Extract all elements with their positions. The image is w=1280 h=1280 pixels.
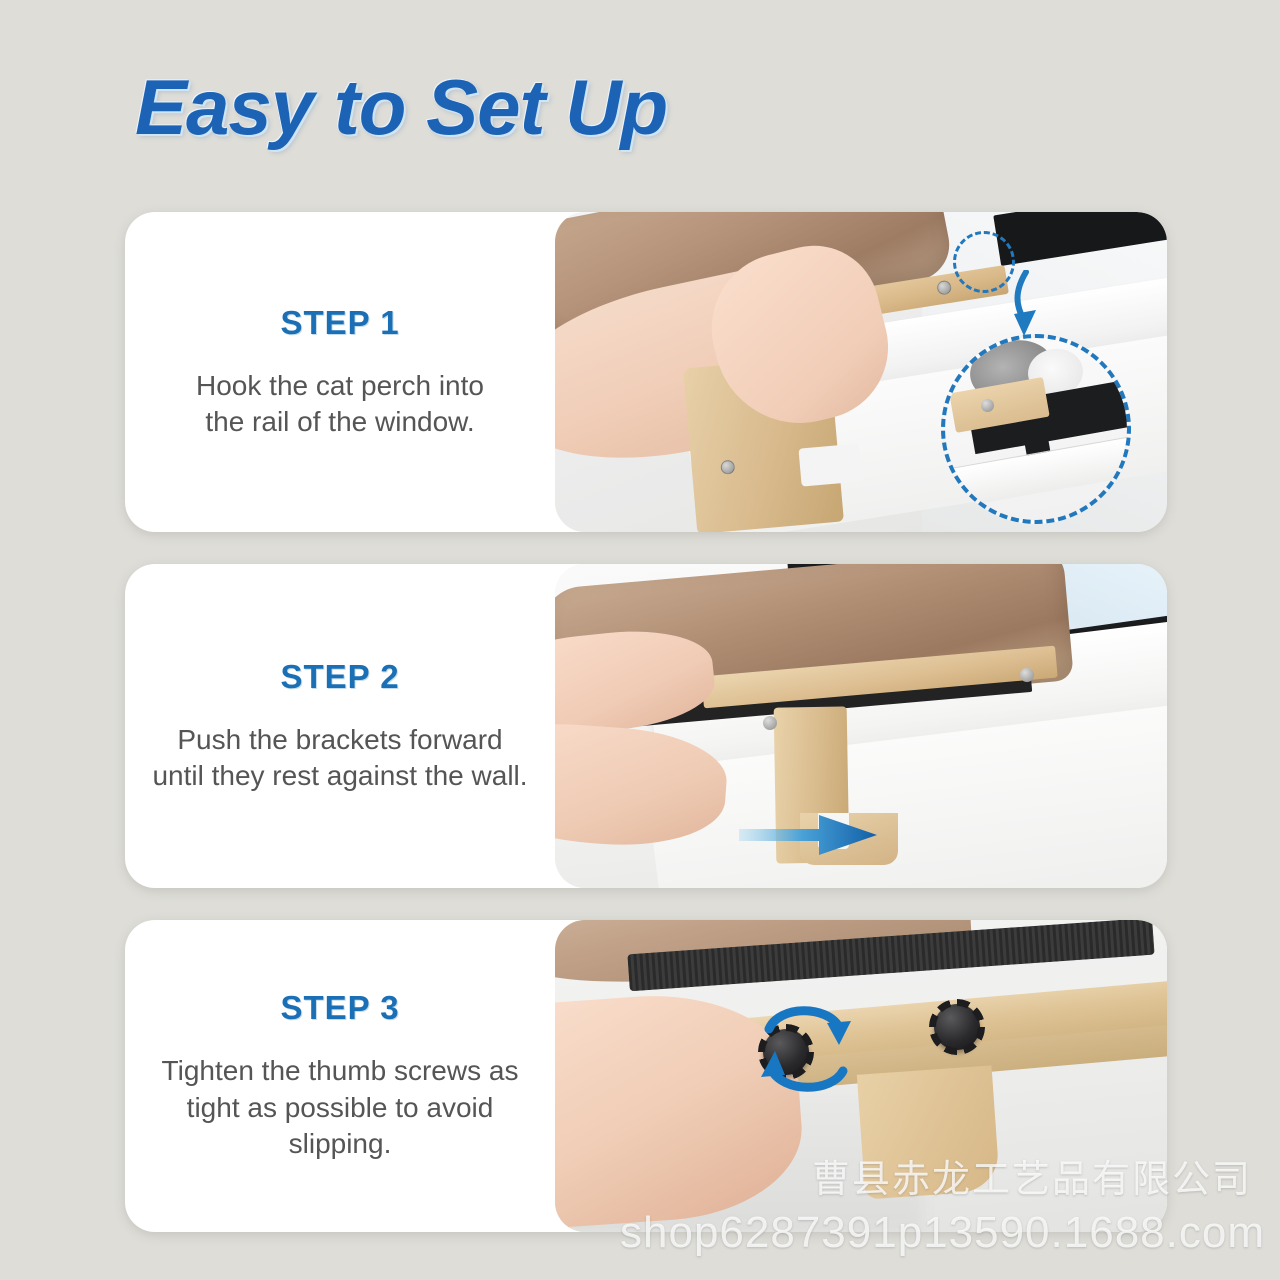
step-1-photo: [555, 212, 1167, 532]
step-1-text-block: STEP 1 Hook the cat perch into the rail …: [125, 212, 555, 532]
screw-icon: [936, 280, 952, 296]
thumb-screw-knob: [934, 1004, 980, 1050]
step-3-text-block: STEP 3 Tighten the thumb screws as tight…: [125, 920, 555, 1232]
infographic-page: Easy to Set Up STEP 1 Hook the cat perch…: [0, 0, 1280, 1280]
step-card-2: STEP 2 Push the brackets forward until t…: [125, 564, 1167, 888]
callout-circle-small: [953, 231, 1015, 293]
screw-icon: [720, 460, 735, 475]
step-2-text-block: STEP 2 Push the brackets forward until t…: [125, 564, 555, 888]
step-3-description: Tighten the thumb screws as tight as pos…: [162, 1053, 519, 1162]
step-2-description: Push the brackets forward until they res…: [152, 722, 527, 795]
detail-zoom-circle: [941, 334, 1131, 524]
step-2-photo: [555, 564, 1167, 888]
step-2-label: STEP 2: [280, 658, 399, 696]
step-card-3: STEP 3 Tighten the thumb screws as tight…: [125, 920, 1167, 1232]
step-1-description: Hook the cat perch into the rail of the …: [196, 368, 484, 441]
hook-notch: [798, 443, 862, 487]
step-3-photo: [555, 920, 1167, 1232]
rotation-arrows-icon: [739, 989, 889, 1099]
step-3-label: STEP 3: [280, 989, 399, 1027]
down-arrow-icon: [1008, 270, 1048, 340]
step-card-1: STEP 1 Hook the cat perch into the rail …: [125, 212, 1167, 532]
screw-icon: [1020, 668, 1034, 682]
page-title: Easy to Set Up: [135, 62, 667, 153]
step-1-label: STEP 1: [280, 304, 399, 342]
right-arrow-icon: [739, 810, 879, 860]
